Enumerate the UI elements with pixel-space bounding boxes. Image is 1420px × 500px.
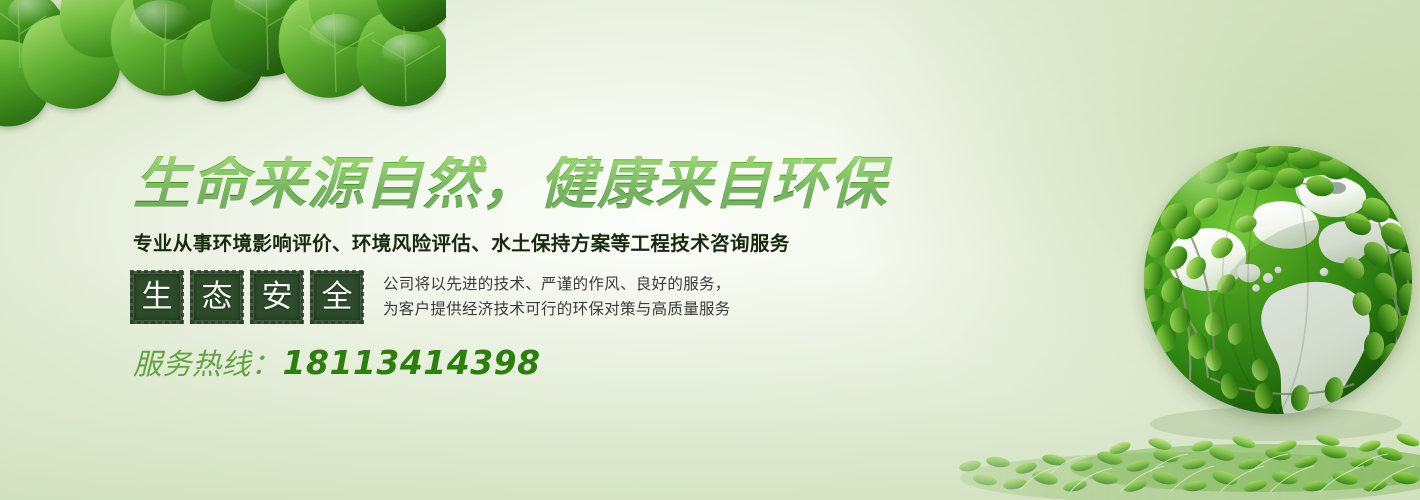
company-promise-line-2: 为客户提供经济技术可行的环保对策与高质量服务 (383, 297, 893, 322)
eco-safety-stamps: 生 态 安 全 (133, 273, 361, 321)
hotline-label: 服务热线： (133, 341, 281, 383)
stamp-char-label: 全 (322, 282, 353, 313)
company-promise-line-1: 公司将以先进的技术、严谨的作风、良好的服务， (383, 272, 893, 297)
hotline-number[interactable]: 18113414398 (283, 343, 541, 382)
stamp-char-label: 态 (202, 282, 233, 313)
stamp-an: 安 (253, 273, 301, 321)
stamp-char-label: 安 (262, 282, 293, 313)
company-promise: 公司将以先进的技术、严谨的作风、良好的服务， 为客户提供经济技术可行的环保对策与… (383, 272, 893, 322)
eco-banner: 生命来源自然，健康来自环保 专业从事环境影响评价、环境风险评估、水土保持方案等工… (0, 0, 1420, 500)
stamp-sheng: 生 (133, 273, 181, 321)
stamp-tai: 态 (193, 273, 241, 321)
stamp-char-label: 生 (142, 282, 173, 313)
banner-text-block: 生命来源自然，健康来自环保 专业从事环境影响评价、环境风险评估、水土保持方案等工… (133, 156, 893, 383)
service-hotline: 服务热线： 18113414398 (133, 341, 893, 383)
page-title: 生命来源自然，健康来自环保 (133, 156, 893, 213)
stamp-quan: 全 (313, 273, 361, 321)
banner-subtitle: 专业从事环境影响评价、环境风险评估、水土保持方案等工程技术咨询服务 (133, 227, 893, 256)
stamps-and-promise-row: 生 态 安 全 公司将以先进的技术、严谨的作风、良好的服务， 为客户提供经济技术… (133, 272, 893, 322)
